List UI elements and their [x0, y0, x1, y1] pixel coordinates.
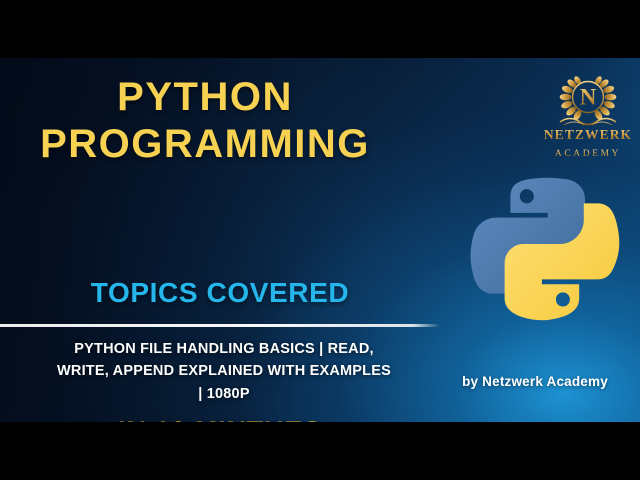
logo-monogram: N [580, 85, 597, 110]
description-line-2: WRITE, APPEND EXPLAINED WITH EXAMPLES [14, 360, 434, 382]
divider-rule [0, 324, 440, 327]
letterbox-bar-bottom [0, 422, 640, 480]
description-line-1: PYTHON FILE HANDLING BASICS | READ, [14, 338, 434, 360]
byline-text: by Netzwerk Academy [430, 374, 640, 389]
logo-brand-name: NETZWERK [544, 127, 632, 142]
flourish-icon [560, 119, 616, 125]
page-title: PYTHON PROGRAMMING [0, 74, 410, 168]
topic-description: PYTHON FILE HANDLING BASICS | READ, WRIT… [14, 338, 434, 405]
netzwerk-academy-logo: N NETZWERK ACADEMY [540, 59, 636, 163]
title-line-1: PYTHON [0, 74, 410, 121]
logo-subtitle: ACADEMY [555, 149, 621, 159]
thumbnail-artboard: PYTHON PROGRAMMING TOPICS COVERED PYTHON… [0, 58, 640, 422]
python-logo-icon [466, 168, 630, 332]
video-thumbnail: PYTHON PROGRAMMING TOPICS COVERED PYTHON… [0, 0, 640, 480]
title-line-2: PROGRAMMING [0, 121, 410, 168]
topics-covered-heading: TOPICS COVERED [0, 277, 440, 309]
letterbox-bar-top [0, 0, 640, 58]
description-line-3: | 1080P [14, 383, 434, 405]
